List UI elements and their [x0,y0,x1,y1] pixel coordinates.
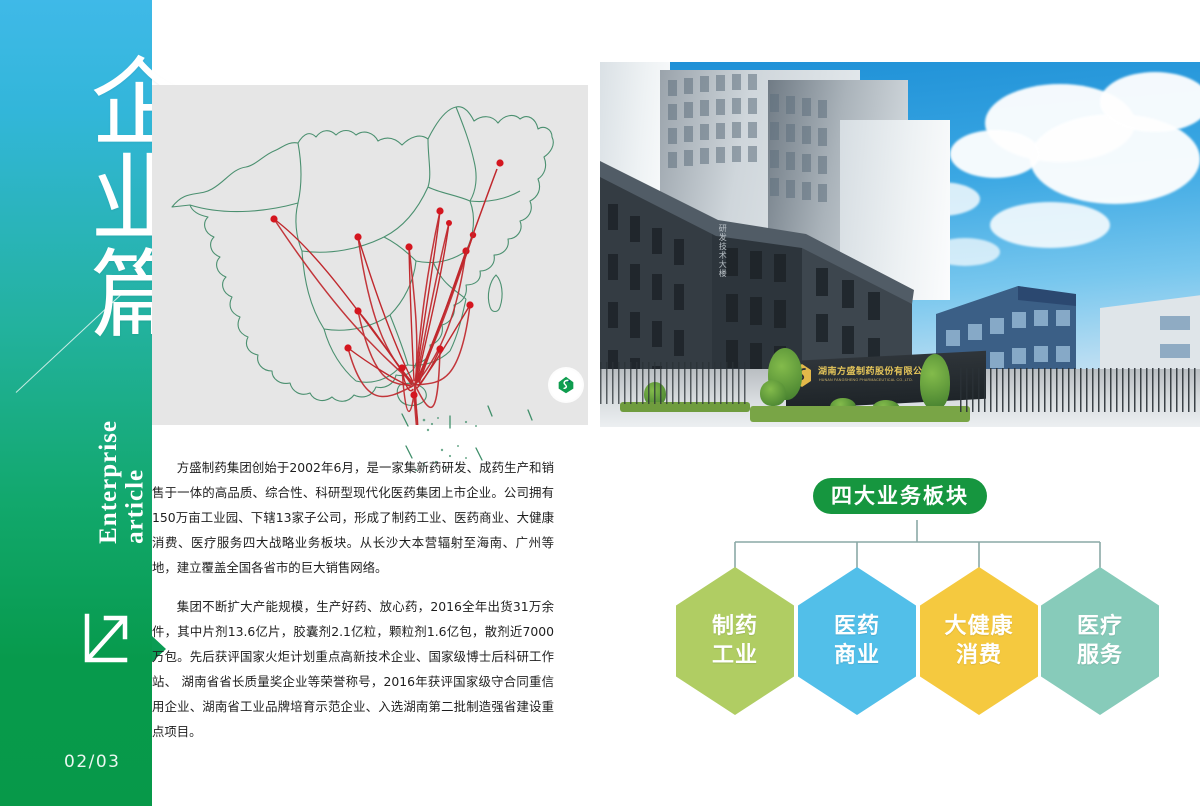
segment-hex-3[interactable]: 大健康 消费 [920,567,1038,715]
building-vertical-sign: 研发技术大楼 [718,224,727,278]
china-map-svg [152,85,588,425]
segment-hex-1[interactable]: 制药 工业 [676,567,794,715]
segment-4-line1: 医疗 [1077,612,1123,641]
brochure-page: 企业篇 Enterprise article 02/03 [0,0,1200,806]
diagonal-arrow-icon [82,610,130,666]
segment-3-line2: 消费 [956,641,1002,670]
segment-2-line1: 医药 [834,612,880,641]
sidebar-content: 企业篇 Enterprise article 02/03 [0,0,152,806]
segment-hex-2[interactable]: 医药 商业 [798,567,916,715]
segment-hex-4[interactable]: 医疗 服务 [1041,567,1159,715]
section-title-en: Enterprise article [96,420,149,544]
segment-1-line2: 工业 [712,641,758,670]
segment-2-line2: 商业 [834,641,880,670]
page-number: 02/03 [64,752,121,772]
hexagon-row: 制药 工业 医药 商业 大健康 消费 医疗 服务 [672,567,1162,715]
company-sign-en: HUNAN FANGSHENG PHARMACEUTICAL CO.,LTD. [819,378,913,382]
left-sidebar: 企业篇 Enterprise article 02/03 [0,0,152,806]
company-hub-marker [550,369,582,401]
article-body: 方盛制药集团创始于2002年6月，是一家集新药研发、成药生产和销售于一体的高品质… [152,455,554,758]
headquarters-photo: 研发技术大楼 [600,62,1200,427]
china-distribution-map [152,85,588,425]
business-segments-diagram: 四大业务板块 制药 工业 医药 商业 大健康 消费 [672,470,1162,715]
company-sign-cn: 湖南方盛制药股份有限公司 [818,364,932,377]
article-paragraph-1: 方盛制药集团创始于2002年6月，是一家集新药研发、成药生产和销售于一体的高品质… [152,455,554,580]
segment-4-line2: 服务 [1077,641,1123,670]
segment-3-line1: 大健康 [944,612,1013,641]
segment-1-line1: 制药 [712,612,758,641]
article-paragraph-2: 集团不断扩大产能规模，生产好药、放心药，2016全年出货31万余件，其中片剂13… [152,594,554,744]
